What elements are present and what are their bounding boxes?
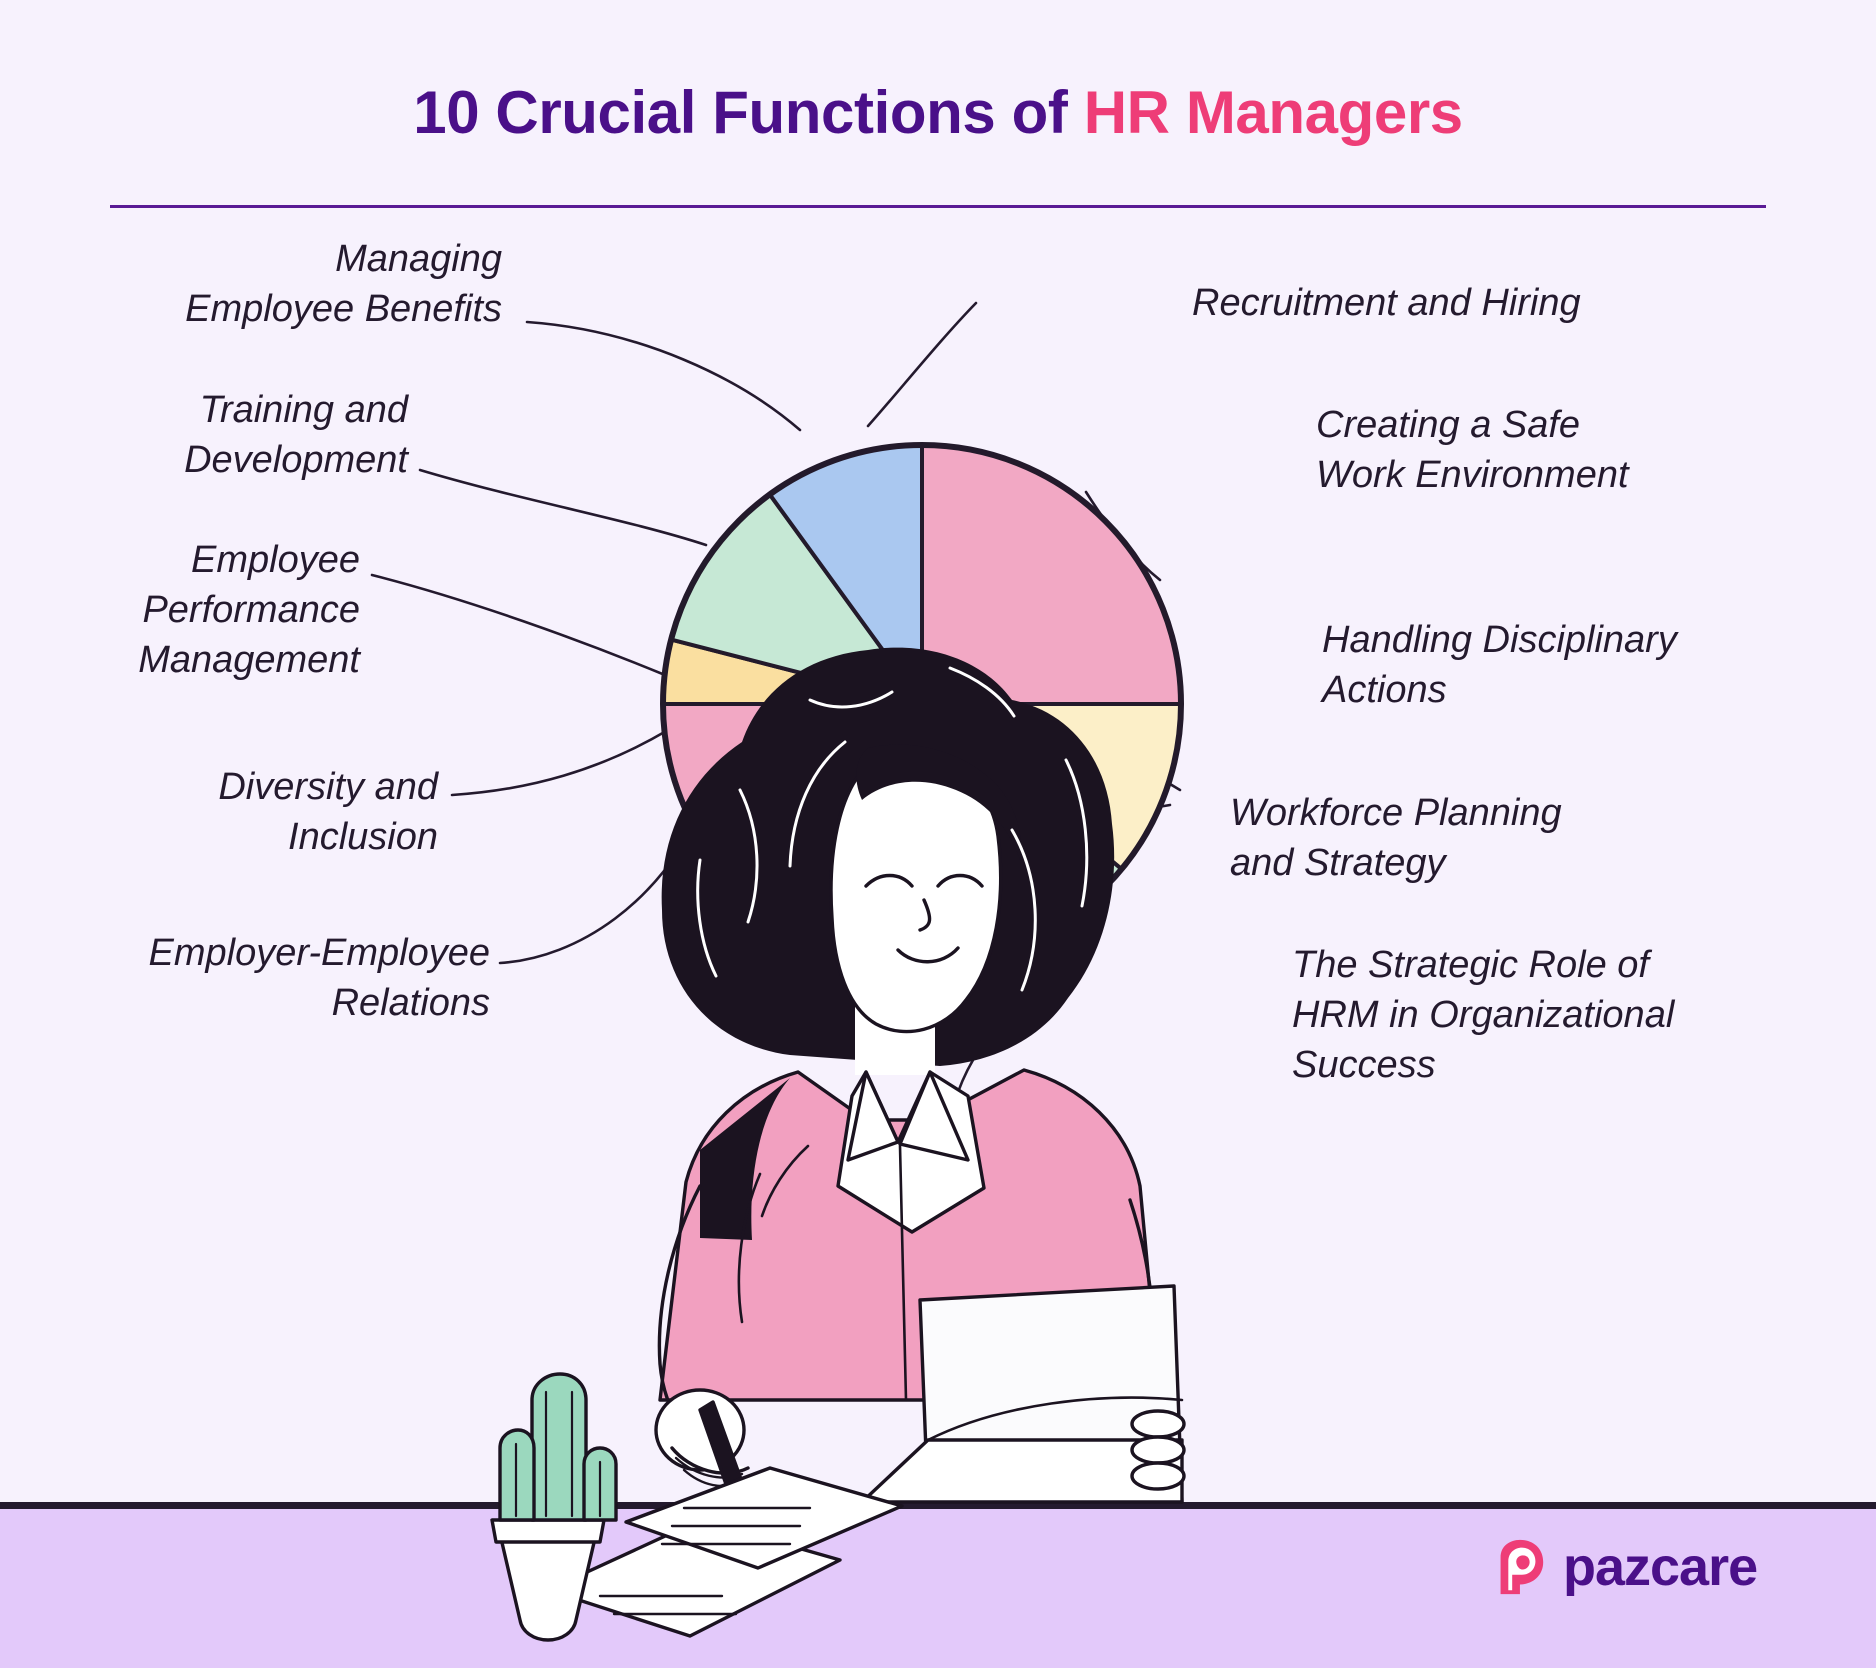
label-diversity-and-inclusion: Diversity andInclusion: [18, 762, 438, 862]
label-training-and-development: Training andDevelopment: [0, 385, 408, 485]
right-hand: [1132, 1411, 1184, 1489]
label-employee-performance-management: EmployeePerformanceManagement: [0, 535, 360, 685]
label-handling-disciplinary-actions: Handling DisciplinaryActions: [1322, 615, 1876, 715]
label-workforce-planning-and-strategy: Workforce Planningand Strategy: [1230, 788, 1750, 888]
pot-rim: [492, 1520, 604, 1542]
pazcare-mark-icon: [1487, 1536, 1549, 1598]
pazcare-wordmark: pazcare: [1563, 1540, 1757, 1594]
label-employer-employee-relations: Employer-EmployeeRelations: [20, 928, 490, 1028]
label-recruitment-and-hiring: Recruitment and Hiring: [1192, 278, 1752, 328]
pazcare-logo[interactable]: pazcare: [1487, 1536, 1757, 1598]
label-strategic-role-of-hrm: The Strategic Role ofHRM in Organization…: [1292, 940, 1852, 1090]
cactus: [500, 1374, 616, 1520]
infographic-canvas: 10 Crucial Functions of HR Managers: [0, 0, 1876, 1668]
label-managing-employee-benefits: ManagingEmployee Benefits: [62, 234, 502, 334]
plant-pot: [500, 1534, 596, 1640]
label-creating-a-safe-work-environment: Creating a SafeWork Environment: [1316, 400, 1836, 500]
